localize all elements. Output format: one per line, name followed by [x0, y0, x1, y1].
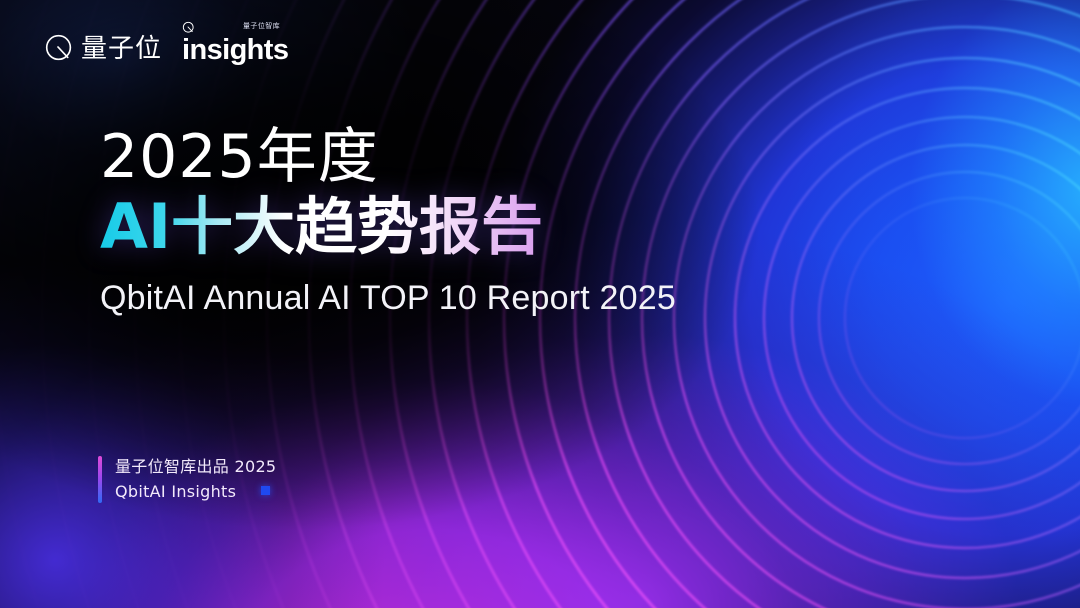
byline-block: 量子位智库出品 2025 QbitAI Insights	[98, 456, 276, 503]
qbitai-logo[interactable]: 量子位	[44, 33, 162, 64]
insights-tagline: 量子位智库	[243, 21, 280, 31]
byline-line-en: QbitAI Insights	[115, 481, 276, 504]
byline-blue-dot	[261, 486, 270, 495]
report-cover-slide: 量子位 insights 量子位智库 2025年度 AI十大趋势报告 QbitA…	[0, 0, 1080, 608]
byline-line-cn: 量子位智库出品 2025	[115, 456, 276, 479]
insights-wordmark: insights	[182, 37, 288, 64]
insights-logo[interactable]: insights 量子位智库	[180, 37, 288, 64]
qbitai-q-circle-icon	[44, 33, 75, 64]
byline-text-group: 量子位智库出品 2025 QbitAI Insights	[115, 456, 276, 503]
insights-q-icon	[182, 21, 196, 35]
title-english-line: QbitAI Annual AI TOP 10 Report 2025	[100, 276, 720, 321]
title-main-line: AI十大趋势报告	[100, 194, 720, 260]
byline-accent-bar	[98, 456, 102, 503]
headline-block: 2025年度 AI十大趋势报告 QbitAI Annual AI TOP 10 …	[100, 127, 720, 321]
brand-name-cn: 量子位	[81, 36, 162, 62]
title-year-line: 2025年度	[100, 127, 720, 188]
brand-logo-lockup[interactable]: 量子位 insights 量子位智库	[44, 33, 288, 64]
